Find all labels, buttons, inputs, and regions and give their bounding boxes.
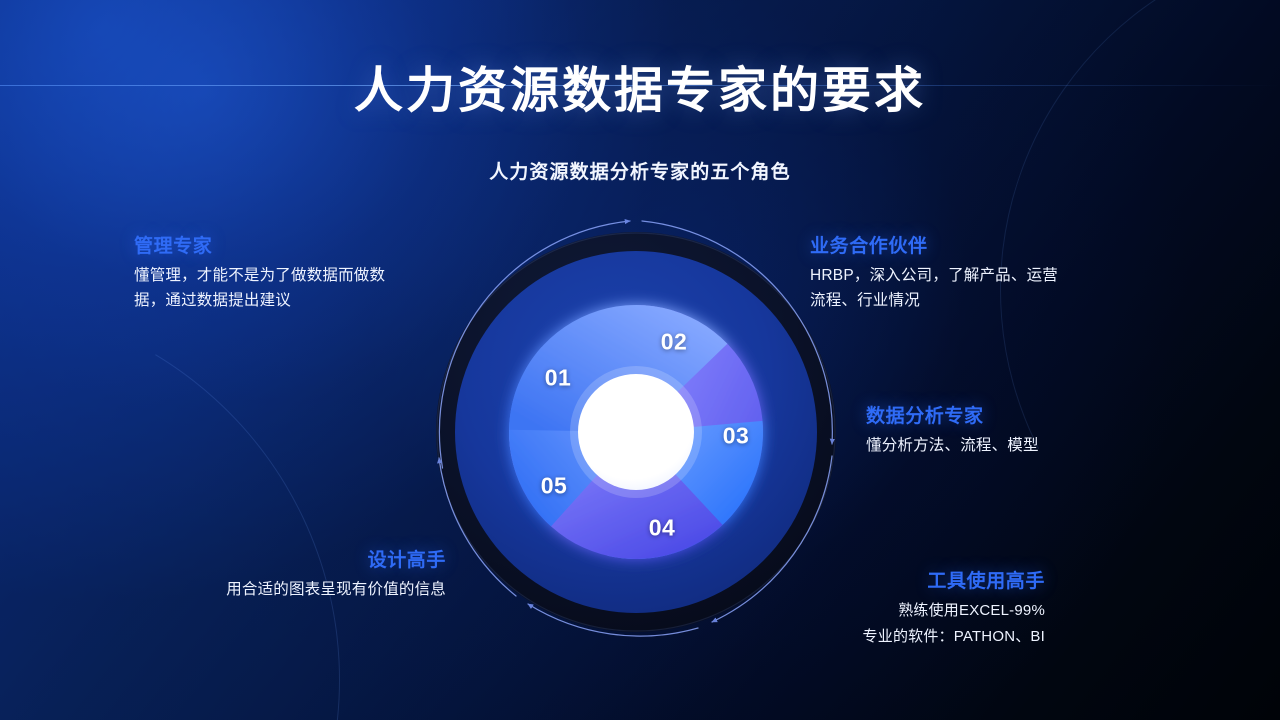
callout-line: HRBP，深入公司，了解产品、运营 [810,263,1150,288]
callout-design-master: 设计高手 用合适的图表呈现有价值的信息 [120,545,446,602]
callout-line: 流程、行业情况 [810,288,1150,313]
callout-data-analysis-expert: 数据分析专家 懂分析方法、流程、模型 [866,401,1166,458]
callout-line: 据，通过数据提出建议 [134,288,464,313]
callout-body-design-master: 用合适的图表呈现有价值的信息 [120,577,446,602]
callout-title-management-expert: 管理专家 [134,231,464,258]
callout-title-data-analysis-expert: 数据分析专家 [866,401,1166,428]
callout-title-tool-master: 工具使用高手 [745,566,1045,593]
callout-body-business-partner: HRBP，深入公司，了解产品、运营 流程、行业情况 [810,263,1150,313]
callout-line: 懂分析方法、流程、模型 [866,433,1166,458]
callout-management-expert: 管理专家 懂管理，才能不是为了做数据而做数 据，通过数据提出建议 [134,231,464,313]
slide-canvas: 人力资源数据专家的要求 人力资源数据分析专家的五个角色 [0,0,1280,720]
callout-title-design-master: 设计高手 [120,545,446,572]
callout-title-business-partner: 业务合作伙伴 [810,231,1150,258]
callout-body-management-expert: 懂管理，才能不是为了做数据而做数 据，通过数据提出建议 [134,263,464,313]
page-subtitle: 人力资源数据分析专家的五个角色 [0,157,1280,184]
callout-line: 懂管理，才能不是为了做数据而做数 [134,263,464,288]
callout-line: 专业的软件：PATHON、BI [745,624,1045,650]
page-title: 人力资源数据专家的要求 [0,63,1280,121]
callout-tool-master: 工具使用高手 熟练使用EXCEL-99% 专业的软件：PATHON、BI [745,566,1045,650]
callout-body-data-analysis-expert: 懂分析方法、流程、模型 [866,433,1166,458]
center-hub [570,366,702,498]
callout-body-tool-master: 熟练使用EXCEL-99% 专业的软件：PATHON、BI [745,598,1045,650]
callout-line: 用合适的图表呈现有价值的信息 [120,577,446,602]
callout-business-partner: 业务合作伙伴 HRBP，深入公司，了解产品、运营 流程、行业情况 [810,231,1150,313]
callout-line: 熟练使用EXCEL-99% [745,598,1045,624]
